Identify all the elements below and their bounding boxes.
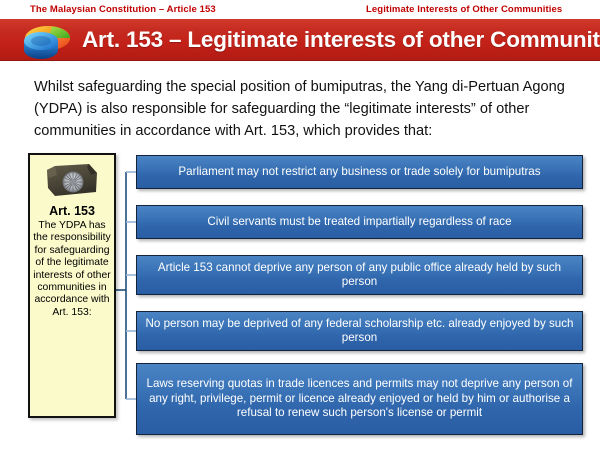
root-node-heading: Art. 153 [32, 204, 112, 218]
branch-box-3: Article 153 cannot deprive any person of… [136, 255, 583, 295]
branch-box-4: No person may be deprived of any federal… [136, 311, 583, 351]
branch-box-1-text: Parliament may not restrict any business… [145, 165, 574, 180]
branch-box-5: Laws reserving quotas in trade licences … [136, 363, 583, 435]
branch-box-4-text: No person may be deprived of any federal… [145, 317, 574, 346]
breadcrumb-left: The Malaysian Constitution – Article 153 [30, 4, 216, 15]
root-node-body: The YDPA has the responsibility for safe… [32, 220, 112, 319]
breadcrumb-bar: The Malaysian Constitution – Article 153… [0, 0, 600, 19]
breadcrumb-right: Legitimate Interests of Other Communitie… [366, 4, 562, 15]
branch-box-2: Civil servants must be treated impartial… [136, 205, 583, 239]
pie-chart-3d-logo-icon [18, 22, 76, 60]
branch-box-5-text: Laws reserving quotas in trade licences … [145, 377, 574, 421]
article-153-diagram: Art. 153 The YDPA has the responsibility… [0, 148, 600, 438]
songkok-headwear-icon [41, 161, 103, 203]
branch-box-3-text: Article 153 cannot deprive any person of… [145, 261, 574, 290]
branch-box-1: Parliament may not restrict any business… [136, 155, 583, 189]
page-title: Art. 153 – Legitimate interests of other… [82, 27, 600, 53]
intro-paragraph: Whilst safeguarding the special position… [34, 76, 574, 142]
root-node-art-153: Art. 153 The YDPA has the responsibility… [28, 153, 116, 418]
title-banner: Art. 153 – Legitimate interests of other… [0, 19, 600, 61]
branch-box-2-text: Civil servants must be treated impartial… [145, 215, 574, 230]
